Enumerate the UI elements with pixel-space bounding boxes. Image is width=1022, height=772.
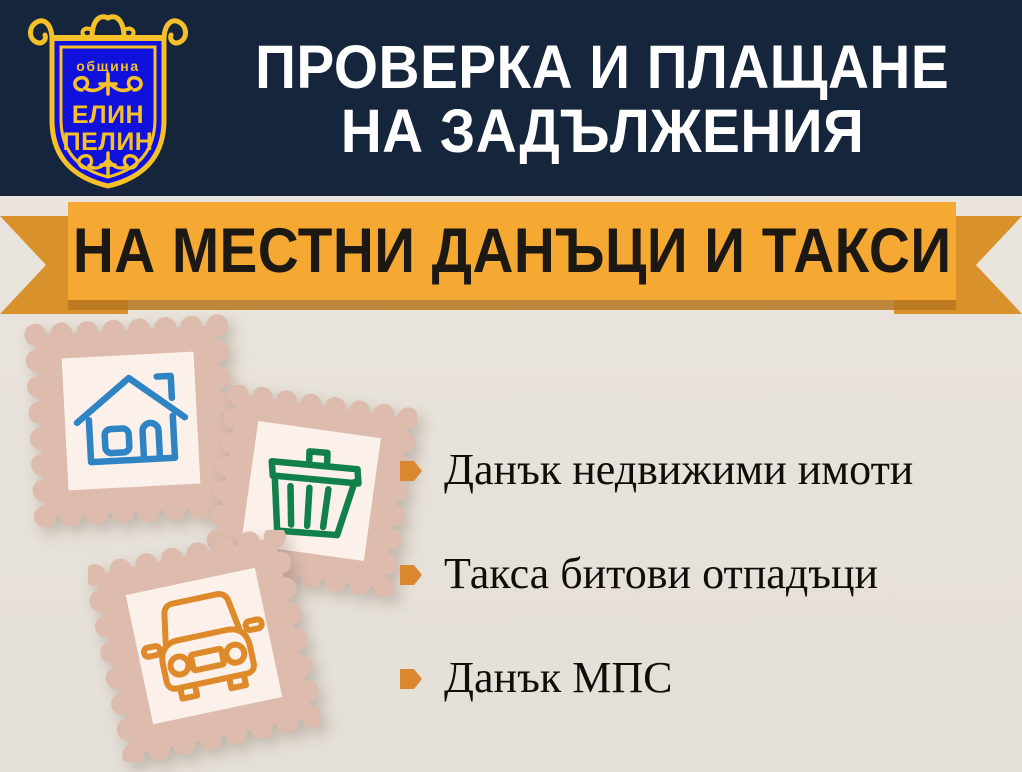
municipality-shield-crest-icon: община ЕЛИН ПЕЛИН [22,8,194,190]
svg-text:община: община [76,58,139,74]
subtitle-ribbon: НА МЕСТНИ ДАНЪЦИ И ТАКСИ [0,196,1022,316]
list-item: Такса битови отпадъци [400,522,1010,626]
tax-types-list: Данък недвижими имоти Такса битови отпад… [400,418,1010,730]
arrow-bullet-icon [400,458,422,484]
svg-text:ЕЛИН: ЕЛИН [72,101,144,129]
ribbon-label: НА МЕСТНИ ДАНЪЦИ И ТАКСИ [73,220,952,283]
list-item-label: Данък МПС [444,654,672,702]
arrow-bullet-icon [400,666,422,692]
list-item: Данък недвижими имоти [400,418,1010,522]
list-item-label: Данък недвижими имоти [444,446,913,494]
stamp-car [88,530,320,762]
page-title: ПРОВЕРКА И ПЛАЩАНЕ НА ЗАДЪЛЖЕНИЯ [196,14,1008,184]
list-item-label: Такса битови отпадъци [444,550,878,598]
arrow-bullet-icon [400,562,422,588]
list-item: Данък МПС [400,626,1010,730]
page-title-line-2: НА ЗАДЪЛЖЕНИЯ [340,99,864,163]
page-title-line-1: ПРОВЕРКА И ПЛАЩАНЕ [255,35,949,99]
poster-canvas: община ЕЛИН ПЕЛИН ПРОВЕРКА И ПЛАЩАНЕ НА … [0,0,1022,772]
ribbon-band: НА МЕСТНИ ДАНЪЦИ И ТАКСИ [68,202,956,300]
